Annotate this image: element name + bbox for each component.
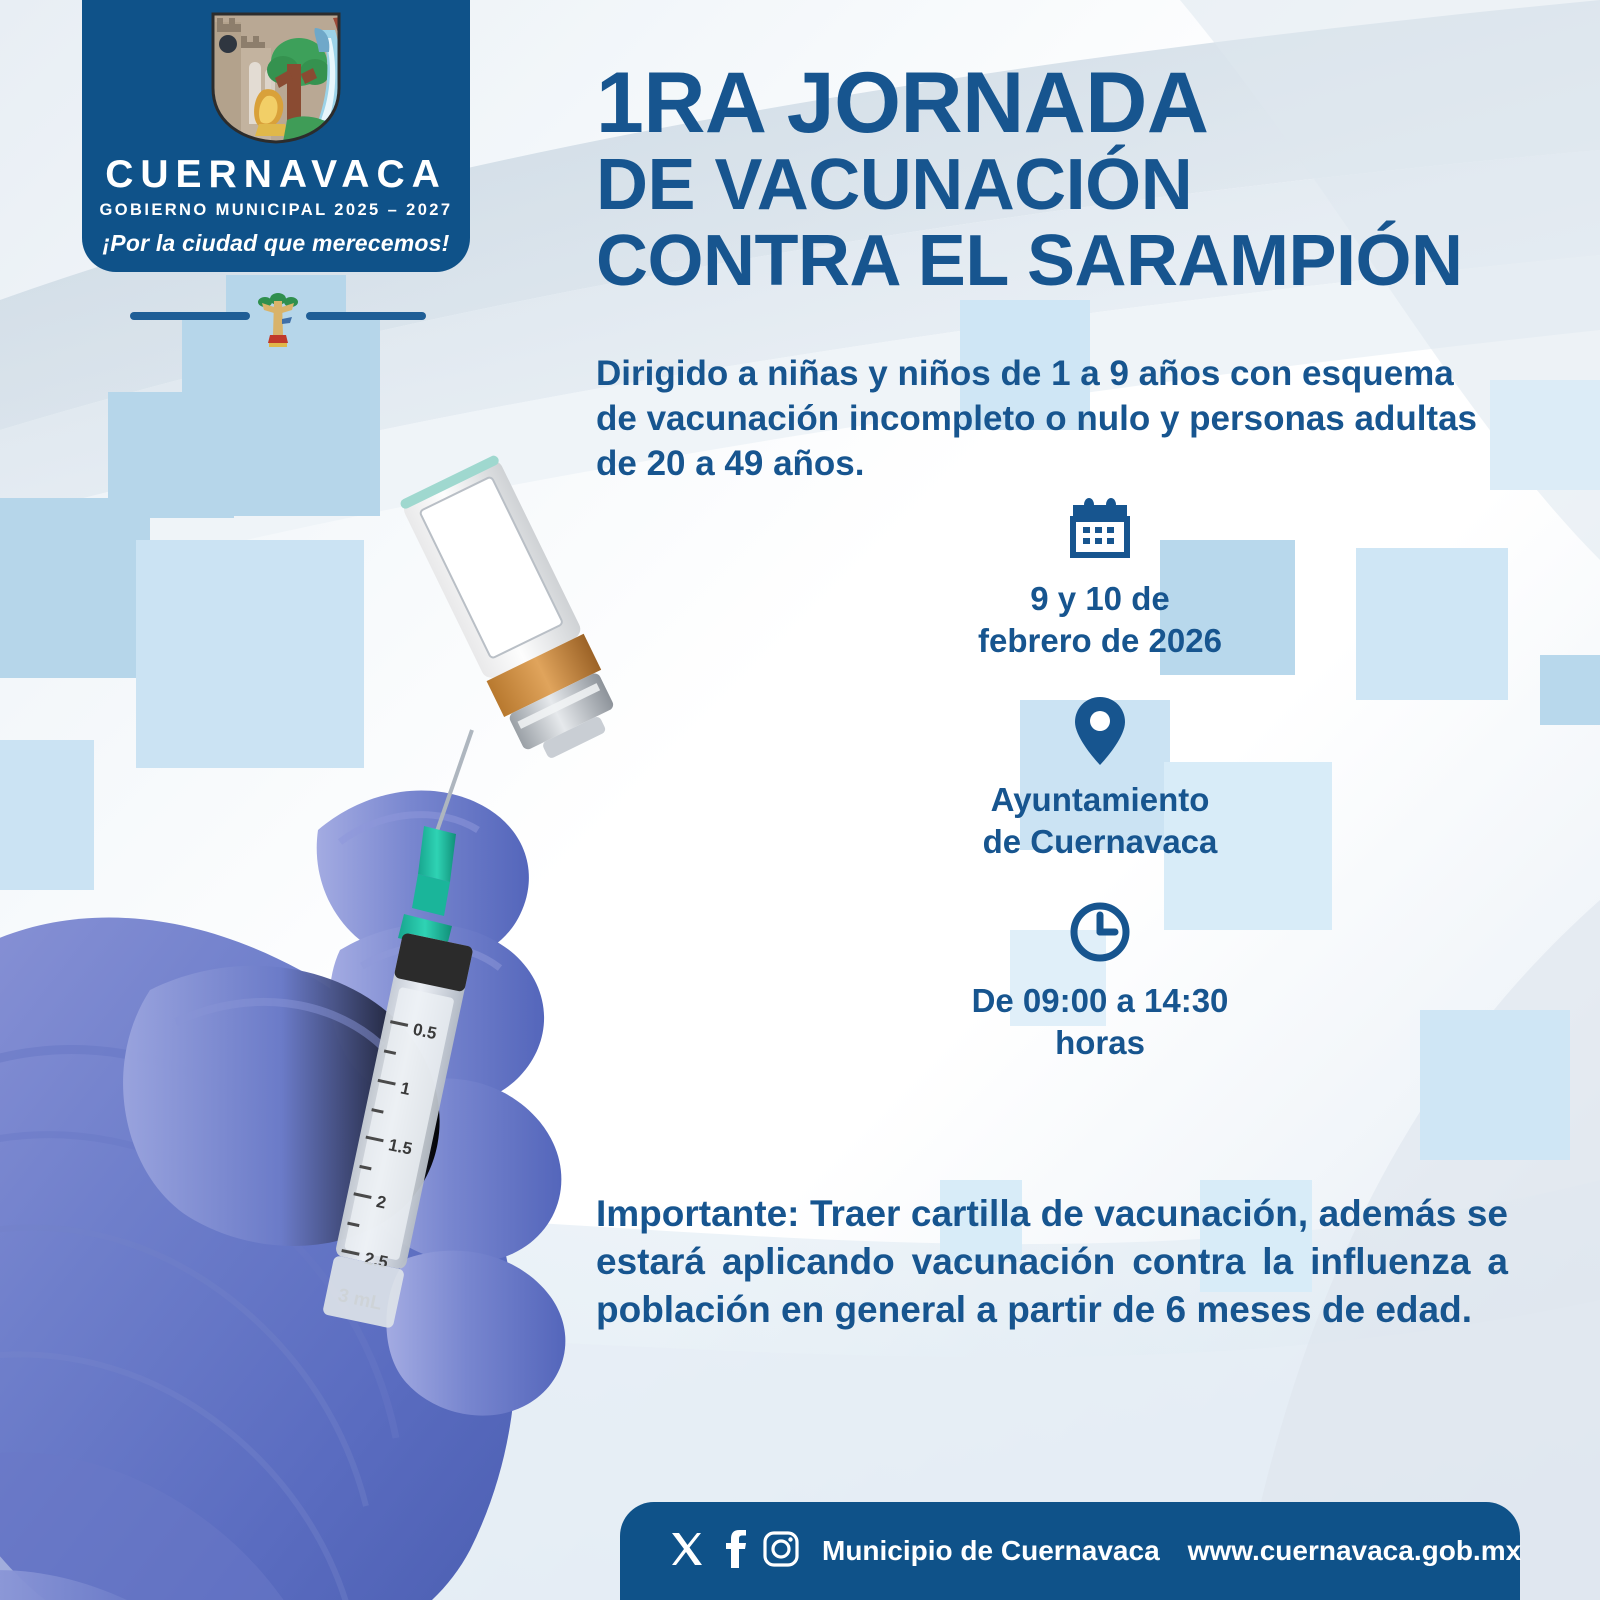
clock-icon [880, 894, 1320, 970]
cuernavaca-logo-badge: CUERNAVACA GOBIERNO MUNICIPAL 2025 – 202… [82, 0, 470, 272]
logo-divider [130, 303, 426, 353]
event-date-block: 9 y 10 de febrero de 2026 [880, 492, 1320, 661]
title-line-2: DE VACUNACIÓN [596, 151, 1576, 221]
decorative-cross [1420, 1010, 1570, 1160]
event-location-text: Ayuntamiento de Cuernavaca [880, 779, 1320, 862]
event-time-line-1: De 09:00 a 14:30 [880, 980, 1320, 1022]
event-time-block: De 09:00 a 14:30 horas [880, 894, 1320, 1063]
event-date-line-1: 9 y 10 de [880, 578, 1320, 620]
decorative-cross [1356, 548, 1508, 700]
calendar-icon [880, 492, 1320, 568]
coat-of-arms-icon [201, 12, 351, 149]
facebook-icon[interactable] [720, 1530, 748, 1573]
important-note: Importante: Traer cartilla de vacunación… [596, 1190, 1508, 1334]
location-pin-icon [880, 693, 1320, 769]
logo-government-period: GOBIERNO MUNICIPAL 2025 – 2027 [100, 201, 453, 220]
decorative-cross [1540, 655, 1600, 725]
vaccination-photo: 0.5 1 1.5 2 2.5 3 mL [0, 430, 620, 1600]
title-line-3: CONTRA EL SARAMPIÓN [596, 227, 1576, 297]
logo-city-name: CUERNAVACA [105, 155, 447, 194]
decorative-cross [1490, 380, 1600, 490]
poster-canvas: 0.5 1 1.5 2 2.5 3 mL [0, 0, 1600, 1600]
important-note-lead: Importante: Traer cartilla de vacunación… [596, 1193, 1308, 1234]
divider-bar-right [306, 312, 426, 320]
page-title: 1RA JORNADA DE VACUNACIÓN CONTRA EL SARA… [596, 62, 1576, 297]
event-date-line-2: febrero de 2026 [880, 620, 1320, 662]
tree-glyph-icon [256, 287, 300, 351]
event-time-text: De 09:00 a 14:30 horas [880, 980, 1320, 1063]
website-url[interactable]: www.cuernavaca.gob.mx [1188, 1535, 1522, 1567]
x-twitter-icon[interactable] [668, 1530, 706, 1573]
event-location-line-1: Ayuntamiento [880, 779, 1320, 821]
title-line-1: 1RA JORNADA [596, 62, 1576, 145]
event-details: 9 y 10 de febrero de 2026 Ayuntamiento d… [880, 492, 1320, 1095]
social-handle: Municipio de Cuernavaca [822, 1535, 1160, 1567]
eligibility-description: Dirigido a niñas y niños de 1 a 9 años c… [596, 352, 1491, 486]
divider-bar-left [130, 312, 250, 320]
social-links [668, 1530, 800, 1573]
event-location-line-2: de Cuernavaca [880, 821, 1320, 863]
instagram-icon[interactable] [762, 1530, 800, 1573]
event-date-text: 9 y 10 de febrero de 2026 [880, 578, 1320, 661]
logo-slogan: ¡Por la ciudad que merecemos! [102, 230, 449, 257]
event-location-block: Ayuntamiento de Cuernavaca [880, 693, 1320, 862]
footer-bar: Municipio de Cuernavaca www.cuernavaca.g… [620, 1502, 1520, 1600]
event-time-line-2: horas [880, 1022, 1320, 1064]
